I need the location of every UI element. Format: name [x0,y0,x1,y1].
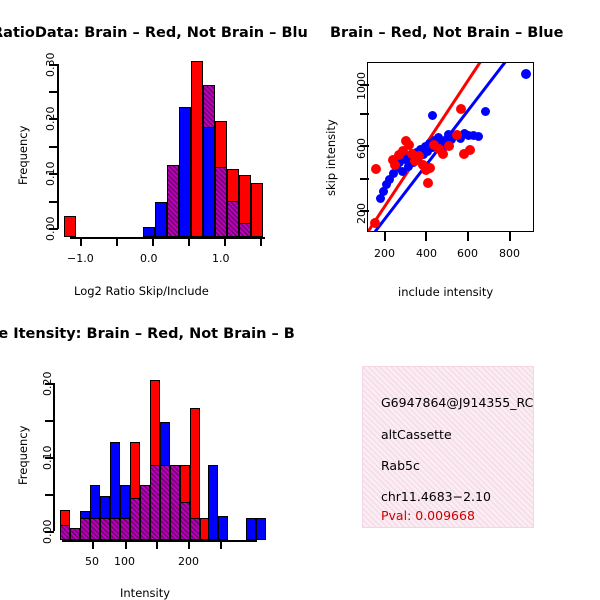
panel-ratio-title: RatioData: Brain – Red, Not Brain – Blu [0,25,308,41]
x-tick [467,232,469,241]
x-ticklabel: 1.0 [212,252,230,265]
x-tick [425,232,427,241]
x-tick [260,237,262,246]
x-tick [92,540,94,549]
info-box-clip: G6947864@J914355_RC altCassette Rab5c ch… [363,367,535,529]
y-ticklabel: 0.10 [44,162,57,187]
scatter-point [521,69,531,79]
hist-bar [70,528,80,540]
scatter-point [452,130,462,140]
scatter-point [428,111,437,120]
hist-bar [239,223,251,237]
info-locus: chr11.4683−2.10 [381,489,491,504]
x-ticklabel: 100 [114,555,135,568]
x-tick [80,237,82,246]
info-box: G6947864@J914355_RC altCassette Rab5c ch… [362,366,534,528]
x-ticklabel: −1.0 [67,252,94,265]
hist-bar [110,518,120,540]
y-ticklabel: 0.30 [44,53,57,78]
x-tick [220,540,222,549]
x-tick [156,540,158,549]
panel-ratio-ylabel: Frequency [16,126,30,185]
x-ticklabel: 200 [374,247,395,260]
panel-ratio-bars [57,62,267,237]
hist-bar [100,518,110,540]
hist-bar [227,201,239,237]
panel-scatter-title: Brain – Red, Not Brain – Blue [330,25,563,41]
hist-bar [170,465,180,540]
x-tick [224,237,226,246]
x-ticklabel: 600 [457,247,478,260]
hist-bar [160,465,170,540]
x-ticklabel: 800 [499,247,520,260]
x-tick [125,540,127,549]
x-ticklabel: 0.0 [140,252,158,265]
info-gene: Rab5c [381,458,420,473]
panel-intensity-title: ne Itensity: Brain – Red, Not Brain – B [0,326,295,342]
hist-bar [179,107,191,237]
hist-bar [90,518,100,540]
scatter-point [371,164,381,174]
x-tick [188,237,190,246]
x-tick [384,232,386,241]
scatter-point [423,178,433,188]
hist-bar [246,518,256,540]
hist-bar [208,465,218,540]
hist-bar [155,202,167,237]
x-tick [116,237,118,246]
scatter-point [465,145,475,155]
scatter-point [425,163,435,173]
hist-bar [191,61,203,237]
panel-scatter-ylabel: skip intensity [324,119,338,196]
x-ticklabel: 200 [178,555,199,568]
hist-bar [251,183,263,237]
hist-bar [150,465,160,540]
scatter-point [390,160,400,170]
y-ticklabel: 0.20 [44,107,57,132]
scatter-point [474,132,483,141]
hist-bar [64,216,76,237]
scatter-plot-frame [367,62,534,232]
scatter-point [481,107,490,116]
scatter-point [370,218,380,228]
scatter-point [456,104,466,114]
panel-ratio-xaxis [70,237,265,239]
x-ticklabel: 50 [85,555,99,568]
hist-bar [80,518,90,540]
hist-bar [130,498,140,540]
hist-bar [180,502,190,540]
panel-scatter: Brain – Red, Not Brain – Blue skip inten… [300,0,600,300]
info-pval: Pval: 0.009668 [381,508,475,523]
hist-bar [140,485,150,540]
panel-intensity-bars [53,372,263,540]
hist-bar [218,516,228,540]
hist-bar [256,518,266,540]
panel-ratio-histogram: RatioData: Brain – Red, Not Brain – Blu … [0,0,300,300]
panel-intensity-histogram: ne Itensity: Brain – Red, Not Brain – B … [0,300,300,600]
hist-bar [203,127,215,237]
x-ticklabel: 400 [416,247,437,260]
info-event-type: altCassette [381,427,452,442]
panel-ratio-xlabel: Log2 Ratio Skip/Include [74,284,209,298]
hist-bar [120,518,130,540]
x-tick [152,237,154,246]
scatter-point [444,141,454,151]
hist-bar [190,518,200,540]
panel-intensity-xlabel: Intensity [120,586,170,600]
hist-bar [143,227,155,237]
panel-scatter-xlabel: include intensity [398,285,493,299]
y-ticklabel: 0.00 [44,217,57,242]
hist-bar [167,165,179,237]
info-id-line: G6947864@J914355_RC [381,395,533,410]
hist-bar [60,525,70,540]
x-tick [509,232,511,241]
x-tick [188,540,190,549]
panel-intensity-ylabel: Frequency [16,426,30,485]
hist-bar [215,167,227,237]
